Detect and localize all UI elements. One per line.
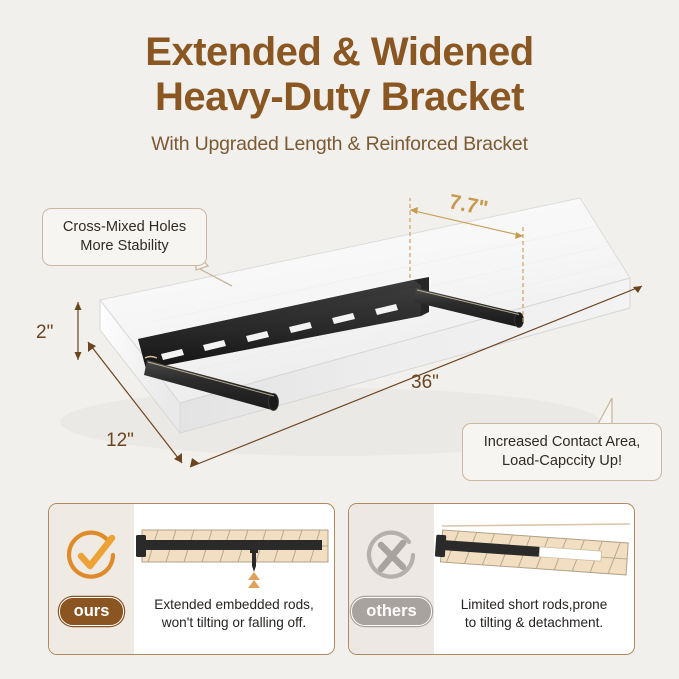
panel-ours-right-column: Extended embedded rods, won't tilting or… — [134, 504, 334, 654]
infographic-stage: Extended & Widened Heavy-Duty Bracket Wi… — [0, 0, 679, 679]
ours-illustration — [134, 510, 335, 590]
callout-holes-line-1: Cross-Mixed Holes — [55, 218, 194, 237]
callout-holes-line-2: More Stability — [55, 237, 194, 256]
panel-others-text: Limited short rods,prone to tilting & de… — [434, 596, 634, 632]
panel-ours-left-column: ours — [49, 504, 134, 654]
dimension-label-thickness: 2" — [36, 322, 53, 343]
dimension-label-rod: 7.7" — [447, 190, 490, 220]
title-line-1: Extended & Widened — [0, 30, 679, 75]
dimension-thickness — [75, 302, 82, 360]
check-circle-icon — [65, 529, 119, 583]
panel-others-right-column: Limited short rods,prone to tilting & de… — [434, 504, 634, 654]
title-line-2: Heavy-Duty Bracket — [0, 75, 679, 120]
badge-ours: ours — [59, 597, 125, 626]
up-arrow-icon — [248, 572, 260, 588]
panel-ours-text-line-1: Extended embedded rods, — [140, 596, 328, 614]
page-title: Extended & Widened Heavy-Duty Bracket Wi… — [0, 30, 679, 156]
others-illustration — [434, 510, 635, 590]
callout-contact-line-1: Increased Contact Area, — [475, 433, 649, 452]
badge-others: others — [351, 597, 431, 626]
dimension-label-depth: 12" — [106, 430, 134, 451]
panel-others: others — [348, 503, 635, 655]
page-subtitle: With Upgraded Length & Reinforced Bracke… — [0, 133, 679, 156]
callout-increased-contact-area: Increased Contact Area, Load-Capccity Up… — [462, 423, 662, 481]
callout-cross-mixed-holes: Cross-Mixed Holes More Stability — [42, 208, 207, 266]
panel-ours-text-line-2: won't tilting or falling off. — [140, 614, 328, 632]
panel-others-left-column: others — [349, 504, 434, 654]
panel-others-text-line-2: to tilting & detachment. — [440, 614, 628, 632]
panel-others-text-line-1: Limited short rods,prone — [440, 596, 628, 614]
comparison-panels: ours — [0, 503, 679, 663]
panel-ours: ours — [48, 503, 335, 655]
panel-ours-text: Extended embedded rods, won't tilting or… — [134, 596, 334, 632]
callout-contact-line-2: Load-Capccity Up! — [475, 452, 649, 471]
dimension-label-width: 36" — [411, 372, 439, 393]
x-circle-icon — [365, 529, 419, 583]
